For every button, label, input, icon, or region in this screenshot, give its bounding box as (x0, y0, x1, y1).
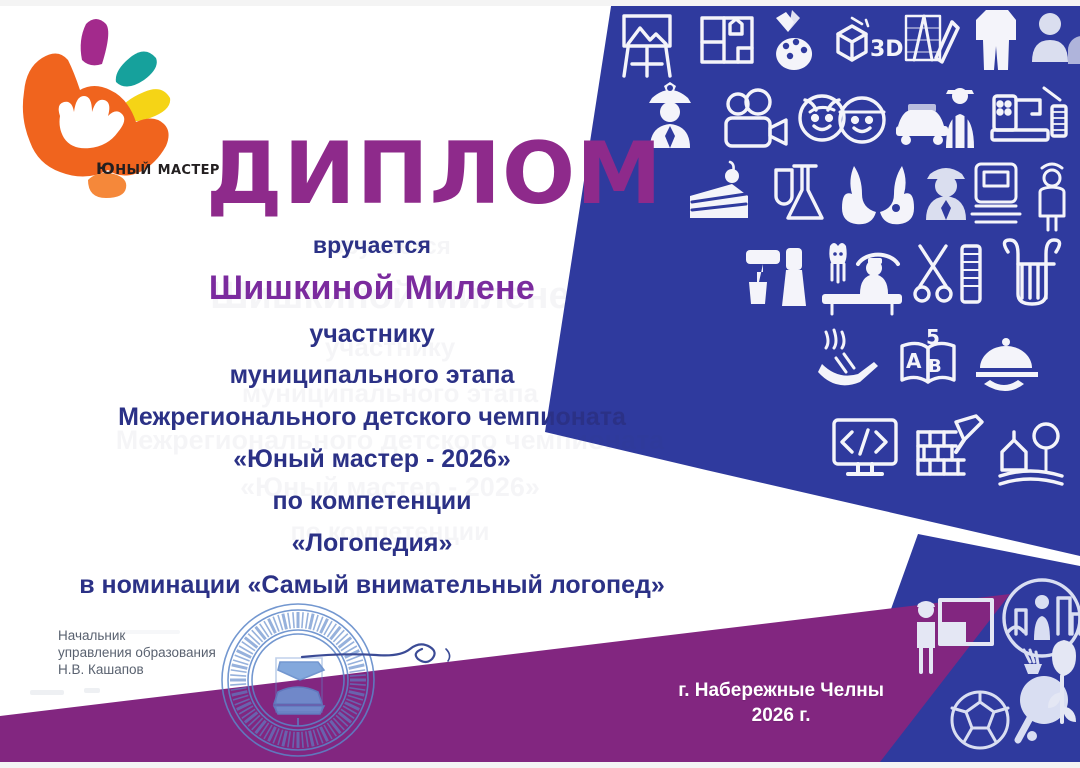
page-edge-bottom (0, 762, 1080, 768)
footer-city: г. Набережные Челны (678, 678, 884, 703)
page-title: ДИПЛОМ (206, 131, 663, 217)
svg-text:А: А (906, 349, 922, 373)
footer-year: 2026 г. (678, 703, 884, 728)
handwritten-signature (300, 625, 460, 685)
paper-smudge (30, 690, 64, 695)
certificate-body: вручается Шишкиной Милене участнику муни… (22, 228, 722, 606)
svg-text:В: В (928, 356, 942, 377)
logo-wordmark: ЮНЫЙ МАСТЕР (96, 159, 220, 178)
page-edge-top (0, 0, 1080, 6)
signer-name: Н.В. Кашапов (58, 661, 216, 678)
logo-finger-magenta (81, 19, 109, 65)
event-stage: муниципального этапа (22, 354, 722, 396)
signature-block: Начальник управления образования Н.В. Ка… (58, 627, 216, 678)
svg-text:5: 5 (926, 325, 940, 349)
signer-position-line1: Начальник (58, 627, 216, 644)
footer-city-year: г. Набережные Челны 2026 г. (678, 678, 884, 728)
competence-name: «Логопедия» (22, 522, 722, 564)
awarded-label: вручается (22, 228, 722, 262)
logo-yuniy-master: ЮНЫЙ МАСТЕР (14, 12, 226, 212)
svg-text:3D: 3D (870, 37, 904, 62)
contest-name: «Юный мастер - 2026» (22, 438, 722, 480)
signer-position-line2: управления образования (58, 644, 216, 661)
diploma-certificate: 3D (0, 0, 1080, 768)
recipient-role: участнику (22, 314, 722, 354)
competence-label: по компетенции (22, 480, 722, 522)
logo-finger-teal (116, 51, 157, 86)
championship-name: Межрегионального детского чемпионата (22, 396, 722, 438)
paper-smudge (84, 688, 100, 693)
recipient-name: Шишкиной Милене (22, 262, 722, 314)
